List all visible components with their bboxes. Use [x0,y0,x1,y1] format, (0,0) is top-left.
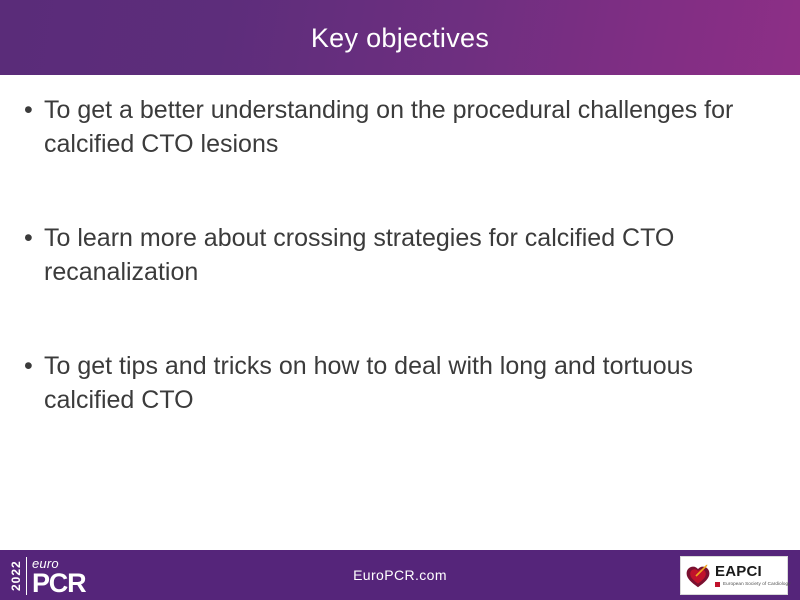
slide: Key objectives • To get a better underst… [0,0,800,600]
list-item: • To learn more about crossing strategie… [22,221,770,289]
eapci-logo-subtitle-text: European Society of Cardiology [723,582,791,587]
eapci-logo: EAPCI European Society of Cardiology [680,556,788,595]
list-item-text: To get tips and tricks on how to deal wi… [44,352,693,414]
eapci-logo-name: EAPCI [715,564,791,579]
list-item: • To get tips and tricks on how to deal … [22,349,770,417]
eapci-logo-subtitle: European Society of Cardiology [715,582,791,587]
bullet-icon: • [24,221,33,255]
objectives-list: • To get a better understanding on the p… [22,93,770,417]
list-item-text: To get a better understanding on the pro… [44,96,733,158]
list-item-text: To learn more about crossing strategies … [44,224,674,286]
list-item: • To get a better understanding on the p… [22,93,770,161]
bullet-icon: • [24,349,33,383]
slide-body: • To get a better understanding on the p… [0,75,800,550]
slide-footer: 2022 euro PCR EuroPCR.com EAPCI [0,550,800,600]
page-title: Key objectives [311,25,489,52]
heart-icon [685,563,711,589]
eapci-logo-text: EAPCI European Society of Cardiology [715,564,791,587]
square-bullet-icon [715,582,720,587]
slide-header: Key objectives [0,0,800,75]
bullet-icon: • [24,93,33,127]
